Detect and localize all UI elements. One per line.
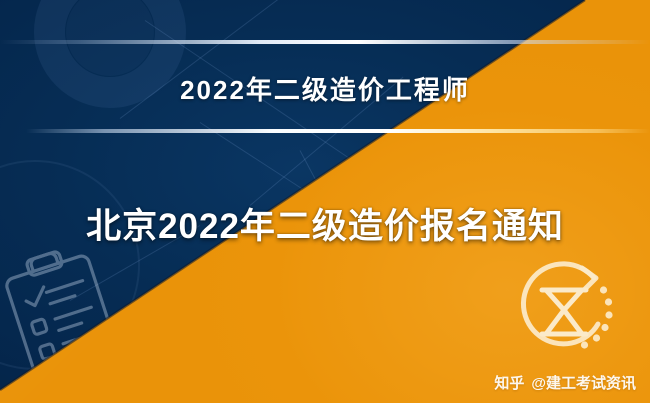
watermark-handle: @建工考试资讯 xyxy=(531,372,636,393)
watermark: 知乎 @建工考试资讯 xyxy=(494,372,636,393)
banner-eyebrow-title: 2022年二级造价工程师 xyxy=(0,70,650,107)
divider-rule-top xyxy=(0,40,650,44)
divider-rule-middle xyxy=(0,129,650,133)
hourglass-refresh-icon xyxy=(508,252,620,364)
zhihu-logo-text: 知乎 xyxy=(494,372,524,393)
banner-main-title: 北京2022年二级造价报名通知 xyxy=(0,198,650,249)
promo-banner: 2022年二级造价工程师 北京2022年二级造价报名通知 知乎 @建工考试资讯 xyxy=(0,0,650,403)
